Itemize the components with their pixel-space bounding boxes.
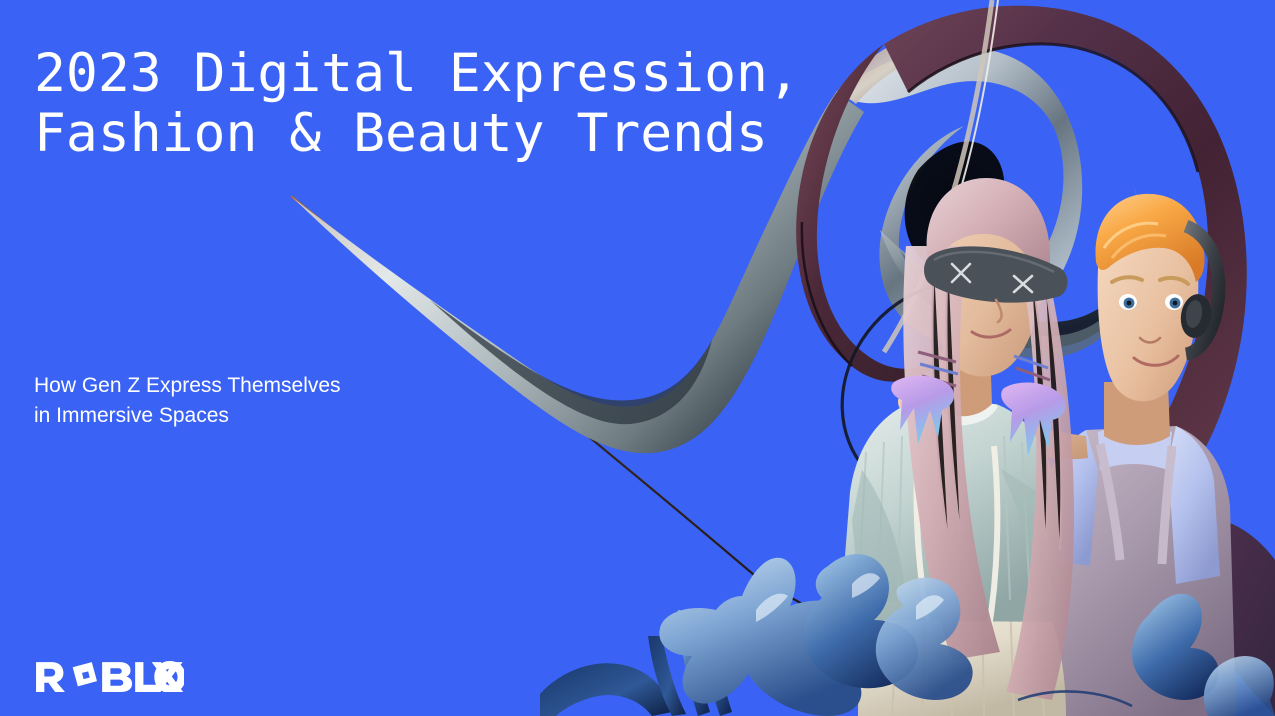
page-title-line-2: Fashion & Beauty Trends xyxy=(34,103,768,164)
page-subtitle: How Gen Z Express Themselves in Immersiv… xyxy=(34,371,341,431)
page-title-line-1: 2023 Digital Expression, xyxy=(34,43,800,104)
logo-letter-b xyxy=(102,662,132,692)
roblox-wordmark-icon xyxy=(34,660,184,692)
cover-slide: 2023 Digital Expression, Fashion & Beaut… xyxy=(0,0,1275,716)
page-subtitle-line-1: How Gen Z Express Themselves xyxy=(34,374,341,397)
page-subtitle-line-2: in Immersive Spaces xyxy=(34,404,229,427)
page-title: 2023 Digital Expression, Fashion & Beaut… xyxy=(34,44,800,164)
roblox-logo xyxy=(34,660,184,692)
text-layer: 2023 Digital Expression, Fashion & Beaut… xyxy=(0,0,1275,716)
logo-letter-r xyxy=(36,662,65,692)
